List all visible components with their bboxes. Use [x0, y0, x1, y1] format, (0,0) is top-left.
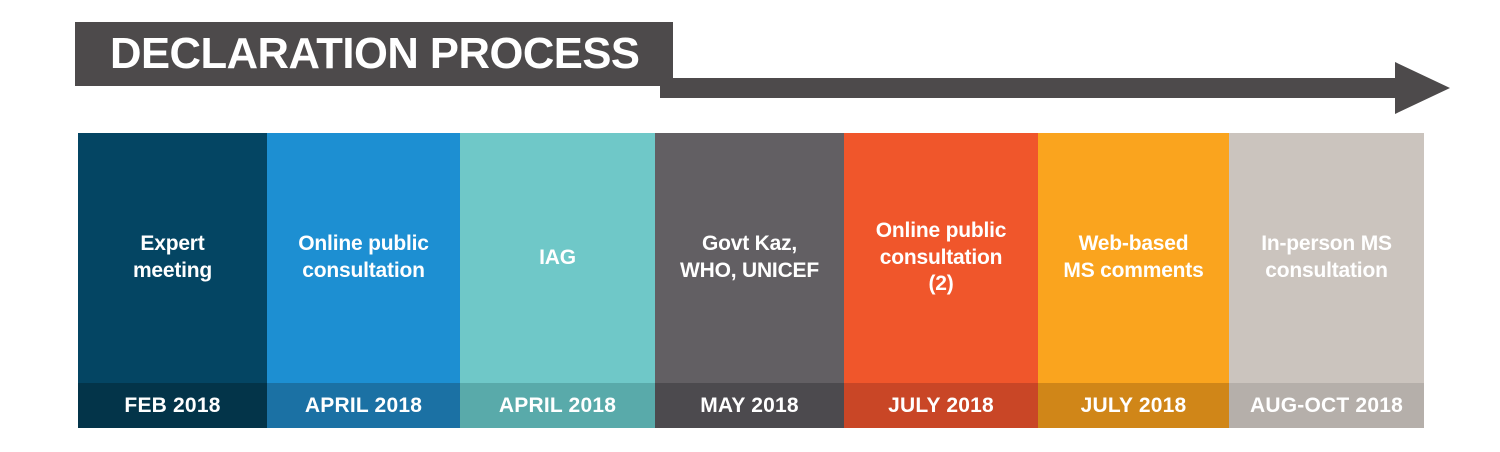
timeline-stage-7[interactable]: In-person MS consultation AUG-OCT 2018 — [1229, 133, 1424, 428]
title-box: DECLARATION PROCESS — [75, 22, 673, 86]
timeline-stage-6-date: JULY 2018 — [1081, 395, 1187, 416]
timeline-stage-4[interactable]: Govt Kaz, WHO, UNICEF MAY 2018 — [655, 133, 844, 428]
timeline-stage-1-body: Expert meeting — [78, 133, 267, 383]
timeline-stage-2-label: Online public consultation — [298, 231, 428, 285]
timeline-stage-3-label: IAG — [539, 245, 576, 272]
timeline-stage-5[interactable]: Online public consultation (2) JULY 2018 — [844, 133, 1038, 428]
timeline-stage-3-date: APRIL 2018 — [499, 395, 616, 416]
timeline-stage-7-date: AUG-OCT 2018 — [1250, 395, 1403, 416]
timeline-stage-6-footer: JULY 2018 — [1038, 383, 1229, 428]
timeline-stage-4-date: MAY 2018 — [700, 395, 799, 416]
right-arrow-icon — [660, 60, 1450, 116]
timeline-stage-6-label: Web-based MS comments — [1063, 231, 1203, 285]
timeline-stage-2-body: Online public consultation — [267, 133, 460, 383]
timeline-stage-1-footer: FEB 2018 — [78, 383, 267, 428]
timeline-stage-2-date: APRIL 2018 — [305, 395, 422, 416]
timeline-stage-4-body: Govt Kaz, WHO, UNICEF — [655, 133, 844, 383]
timeline-stage-2-footer: APRIL 2018 — [267, 383, 460, 428]
timeline-stage-1[interactable]: Expert meeting FEB 2018 — [78, 133, 267, 428]
timeline-stage-2[interactable]: Online public consultation APRIL 2018 — [267, 133, 460, 428]
timeline-stage-4-footer: MAY 2018 — [655, 383, 844, 428]
timeline-stage-7-body: In-person MS consultation — [1229, 133, 1424, 383]
timeline-stage-3[interactable]: IAG APRIL 2018 — [460, 133, 655, 428]
timeline-stage-5-date: JULY 2018 — [888, 395, 994, 416]
timeline-stage-1-date: FEB 2018 — [124, 395, 220, 416]
timeline-stage-6-body: Web-based MS comments — [1038, 133, 1229, 383]
timeline-stage-6[interactable]: Web-based MS comments JULY 2018 — [1038, 133, 1229, 428]
process-timeline: Expert meeting FEB 2018 Online public co… — [78, 133, 1424, 428]
timeline-stage-5-body: Online public consultation (2) — [844, 133, 1038, 383]
timeline-stage-7-footer: AUG-OCT 2018 — [1229, 383, 1424, 428]
page-title: DECLARATION PROCESS — [110, 32, 639, 76]
header-band: DECLARATION PROCESS — [0, 0, 1500, 120]
timeline-stage-4-label: Govt Kaz, WHO, UNICEF — [680, 231, 819, 285]
timeline-stage-1-label: Expert meeting — [133, 231, 212, 285]
timeline-stage-5-footer: JULY 2018 — [844, 383, 1038, 428]
timeline-stage-5-label: Online public consultation (2) — [876, 218, 1006, 299]
timeline-stage-7-label: In-person MS consultation — [1261, 231, 1392, 285]
timeline-stage-3-body: IAG — [460, 133, 655, 383]
timeline-stage-3-footer: APRIL 2018 — [460, 383, 655, 428]
